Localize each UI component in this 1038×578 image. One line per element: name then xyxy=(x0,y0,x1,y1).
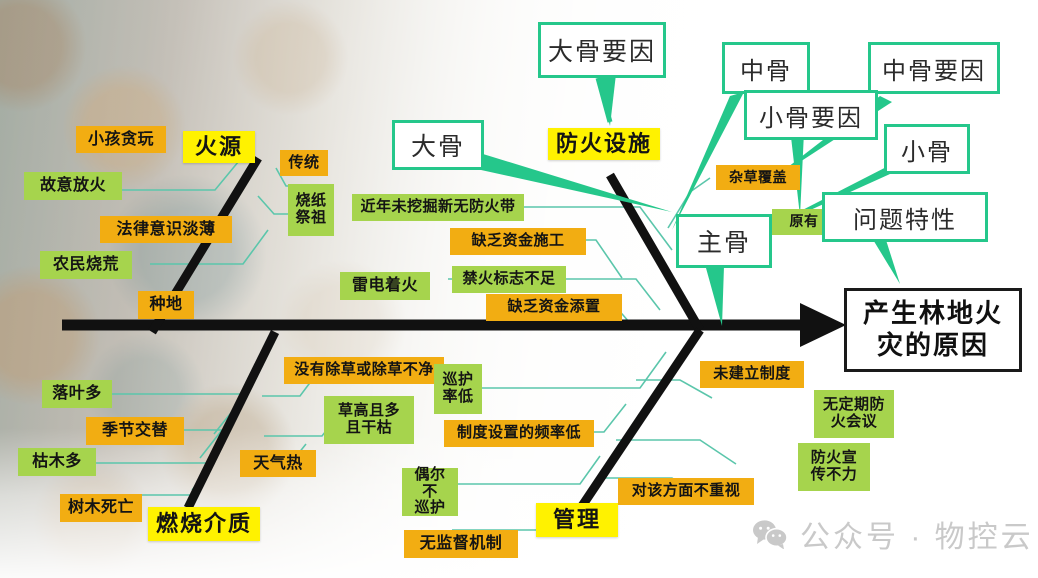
cause-label-guanli-0[interactable]: 巡护 率低 xyxy=(434,364,482,414)
watermark: 公众号 · 物控云 xyxy=(752,512,1034,556)
category-label-guanli[interactable]: 管理 xyxy=(536,503,618,537)
cause-label-fanghuo-3[interactable]: 禁火标志不足 xyxy=(452,266,566,293)
cause-label-guanli-5[interactable]: 无定期防 火会议 xyxy=(814,390,894,438)
cause-label-huoyuan-0[interactable]: 小孩贪玩 xyxy=(76,126,166,153)
callout-wenti-texing[interactable]: 问题特性 xyxy=(822,192,988,242)
cause-label-guanli-7[interactable]: 对该方面不重视 xyxy=(618,478,754,505)
spine-arrow-head xyxy=(800,303,846,347)
cause-label-ranshao-1[interactable]: 季节交替 xyxy=(86,417,184,445)
callout-zhonggu-yaoyin[interactable]: 中骨要因 xyxy=(868,42,1000,94)
cause-label-huoyuan-2[interactable]: 法律意识淡薄 xyxy=(100,216,232,243)
cause-label-huoyuan-6[interactable]: 烧纸 祭祖 xyxy=(288,184,334,236)
cause-label-guanli-4[interactable]: 未建立制度 xyxy=(700,361,804,388)
cause-label-huoyuan-3[interactable]: 农民烧荒 xyxy=(40,251,132,279)
cause-label-guanli-2[interactable]: 偶尔不 巡护 xyxy=(402,468,458,516)
cause-label-ranshao-0[interactable]: 落叶多 xyxy=(42,380,112,408)
cause-label-fanghuo-0[interactable]: 近年未挖掘新无防火带 xyxy=(352,194,524,221)
branch-ranshao xyxy=(188,332,275,508)
callout-xiaogu[interactable]: 小骨 xyxy=(884,124,970,174)
watermark-text: 公众号 · 物控云 xyxy=(800,512,1034,556)
cause-label-ranshao-5[interactable]: 没有除草或除草不净 xyxy=(284,357,444,384)
cause-label-ranshao-3[interactable]: 树木死亡 xyxy=(60,494,142,522)
cause-label-fanghuo-4[interactable]: 缺乏资金添置 xyxy=(486,294,622,321)
result-box[interactable]: 产生林地火 灾的原因 xyxy=(844,288,1022,372)
callout-zhonggu[interactable]: 中骨 xyxy=(722,42,810,94)
cause-label-ranshao-2[interactable]: 枯木多 xyxy=(18,448,96,476)
callout-zhugu[interactable]: 主骨 xyxy=(676,214,772,268)
wechat-icon xyxy=(752,519,788,549)
cause-label-huoyuan-5[interactable]: 传统 xyxy=(280,150,328,176)
cause-label-ranshao-6[interactable]: 草高且多 且干枯 xyxy=(324,396,414,444)
cause-label-huoyuan-1[interactable]: 故意放火 xyxy=(24,172,122,200)
callout-dagu[interactable]: 大骨 xyxy=(392,120,484,170)
cause-label-fanghuo-2[interactable]: 雷电着火 xyxy=(340,272,430,300)
cause-label-fanghuo-1[interactable]: 缺乏资金施工 xyxy=(450,228,586,255)
cause-label-huoyuan-4[interactable]: 种地 xyxy=(138,291,194,319)
fishbone-diagram: 火源 防火设施 燃烧介质 管理 小孩贪玩 故意放火 法律意识淡薄 农民烧荒 种地… xyxy=(0,0,1038,578)
cause-label-ranshao-4[interactable]: 天气热 xyxy=(240,450,316,477)
category-label-huoyuan[interactable]: 火源 xyxy=(183,131,255,163)
category-label-ranshao[interactable]: 燃烧介质 xyxy=(148,507,260,541)
callout-dagu-yaoyin[interactable]: 大骨要因 xyxy=(538,22,666,78)
cause-label-fanghuo-5[interactable]: 杂草覆盖 xyxy=(716,165,800,190)
cause-label-guanli-6[interactable]: 防火宣 传不力 xyxy=(798,443,870,491)
category-label-fanghuo[interactable]: 防火设施 xyxy=(548,128,660,160)
cause-label-guanli-1[interactable]: 制度设置的频率低 xyxy=(444,420,594,447)
cause-label-guanli-3[interactable]: 无监督机制 xyxy=(404,530,518,558)
callout-xiaogu-yaoyin[interactable]: 小骨要因 xyxy=(744,90,878,140)
